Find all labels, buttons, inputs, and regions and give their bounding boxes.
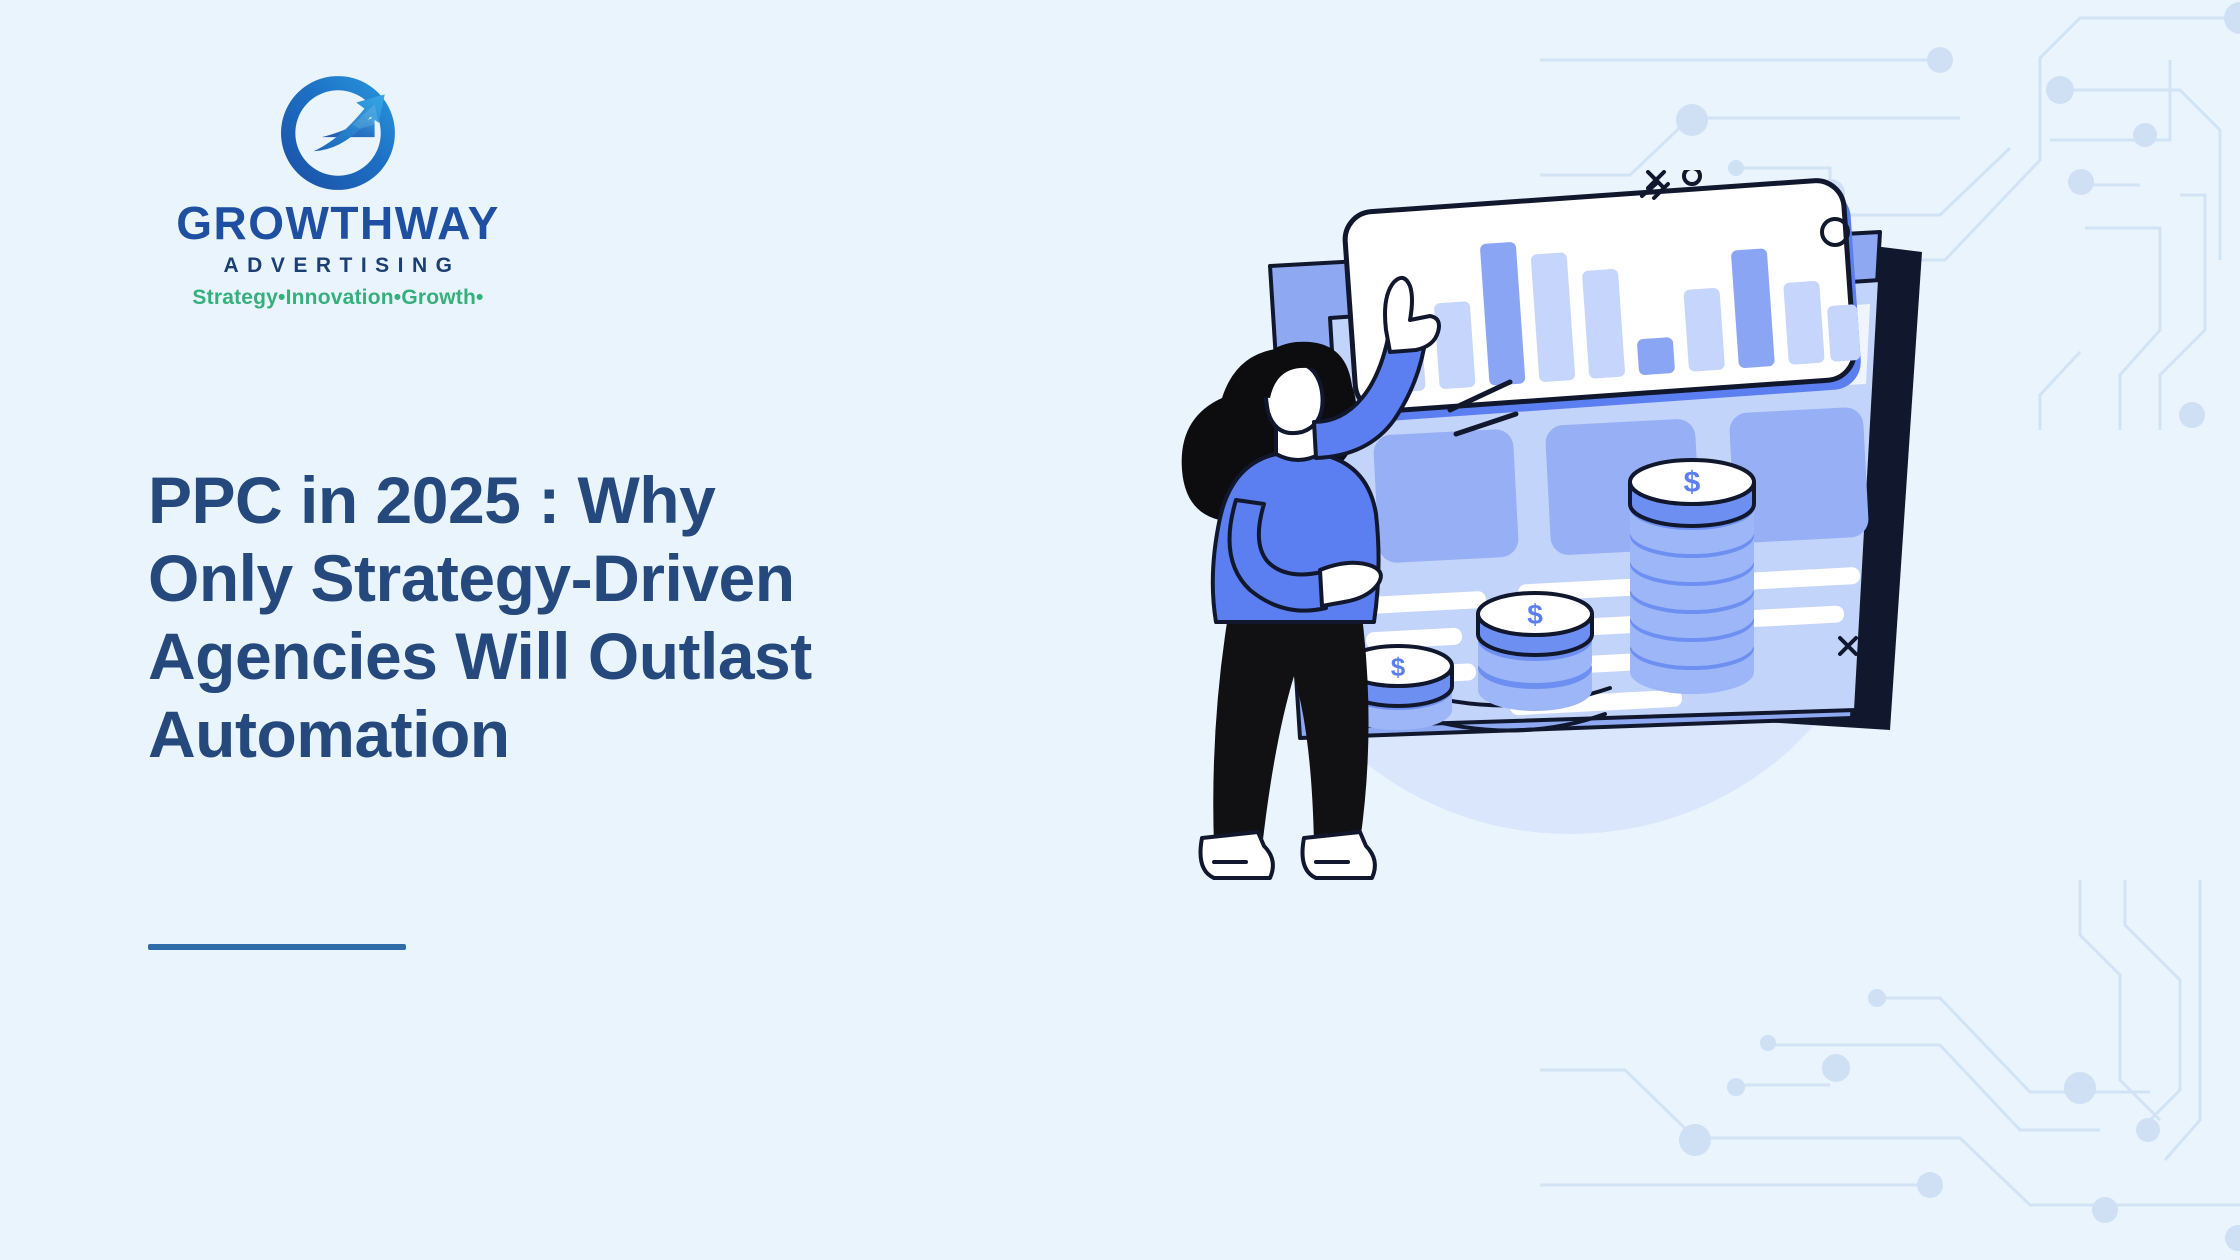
shoe-left [1201,832,1273,878]
page-title: PPC in 2025 : Why Only Strategy-Driven A… [148,462,1028,774]
chart-bar [1783,281,1825,365]
logo-subtitle: ADVERTISING [148,255,528,276]
headline-line-4: Automation [148,696,1028,774]
logo-wordmark: GROWTHWAY [148,200,528,246]
brand-logo: GROWTHWAY ADVERTISING Strategy•Innovatio… [148,72,528,308]
coin-stack-large: $ [1630,460,1754,694]
pants [1213,616,1368,848]
chart-bar [1637,337,1675,375]
shoe-right [1303,832,1375,878]
coin-top: $ [1478,593,1592,655]
chart-bar [1827,304,1861,362]
headline-line-3: Agencies Will Outlast [148,618,1028,696]
banner-root: GROWTHWAY ADVERTISING Strategy•Innovatio… [0,0,2240,1260]
dashboard-tile [1373,428,1520,563]
chart-bar [1683,288,1725,372]
logo-tagline: Strategy•Innovation•Growth• [148,287,528,308]
headline-line-1: PPC in 2025 : Why [148,462,1028,540]
bar-chart-card [1343,178,1862,423]
growthway-arrow-globe-logo-icon [277,72,399,194]
chart-bar [1434,301,1476,389]
headline-line-2: Only Strategy-Driven [148,540,1028,618]
dollar-symbol: $ [1527,599,1543,630]
dollar-symbol: $ [1684,466,1701,499]
circuit-board-pattern-icon [1540,880,2240,1260]
coin-top: $ [1630,460,1754,526]
title-divider [148,944,406,950]
ppc-analytics-dashboard-illustration: $ $ [1180,170,1980,900]
left-content-column: GROWTHWAY ADVERTISING Strategy•Innovatio… [0,0,1080,1260]
circle-outline-small [1684,170,1700,184]
chart-bar [1582,269,1625,379]
coin-stack-medium: $ [1478,593,1592,711]
dollar-symbol: $ [1391,652,1406,682]
